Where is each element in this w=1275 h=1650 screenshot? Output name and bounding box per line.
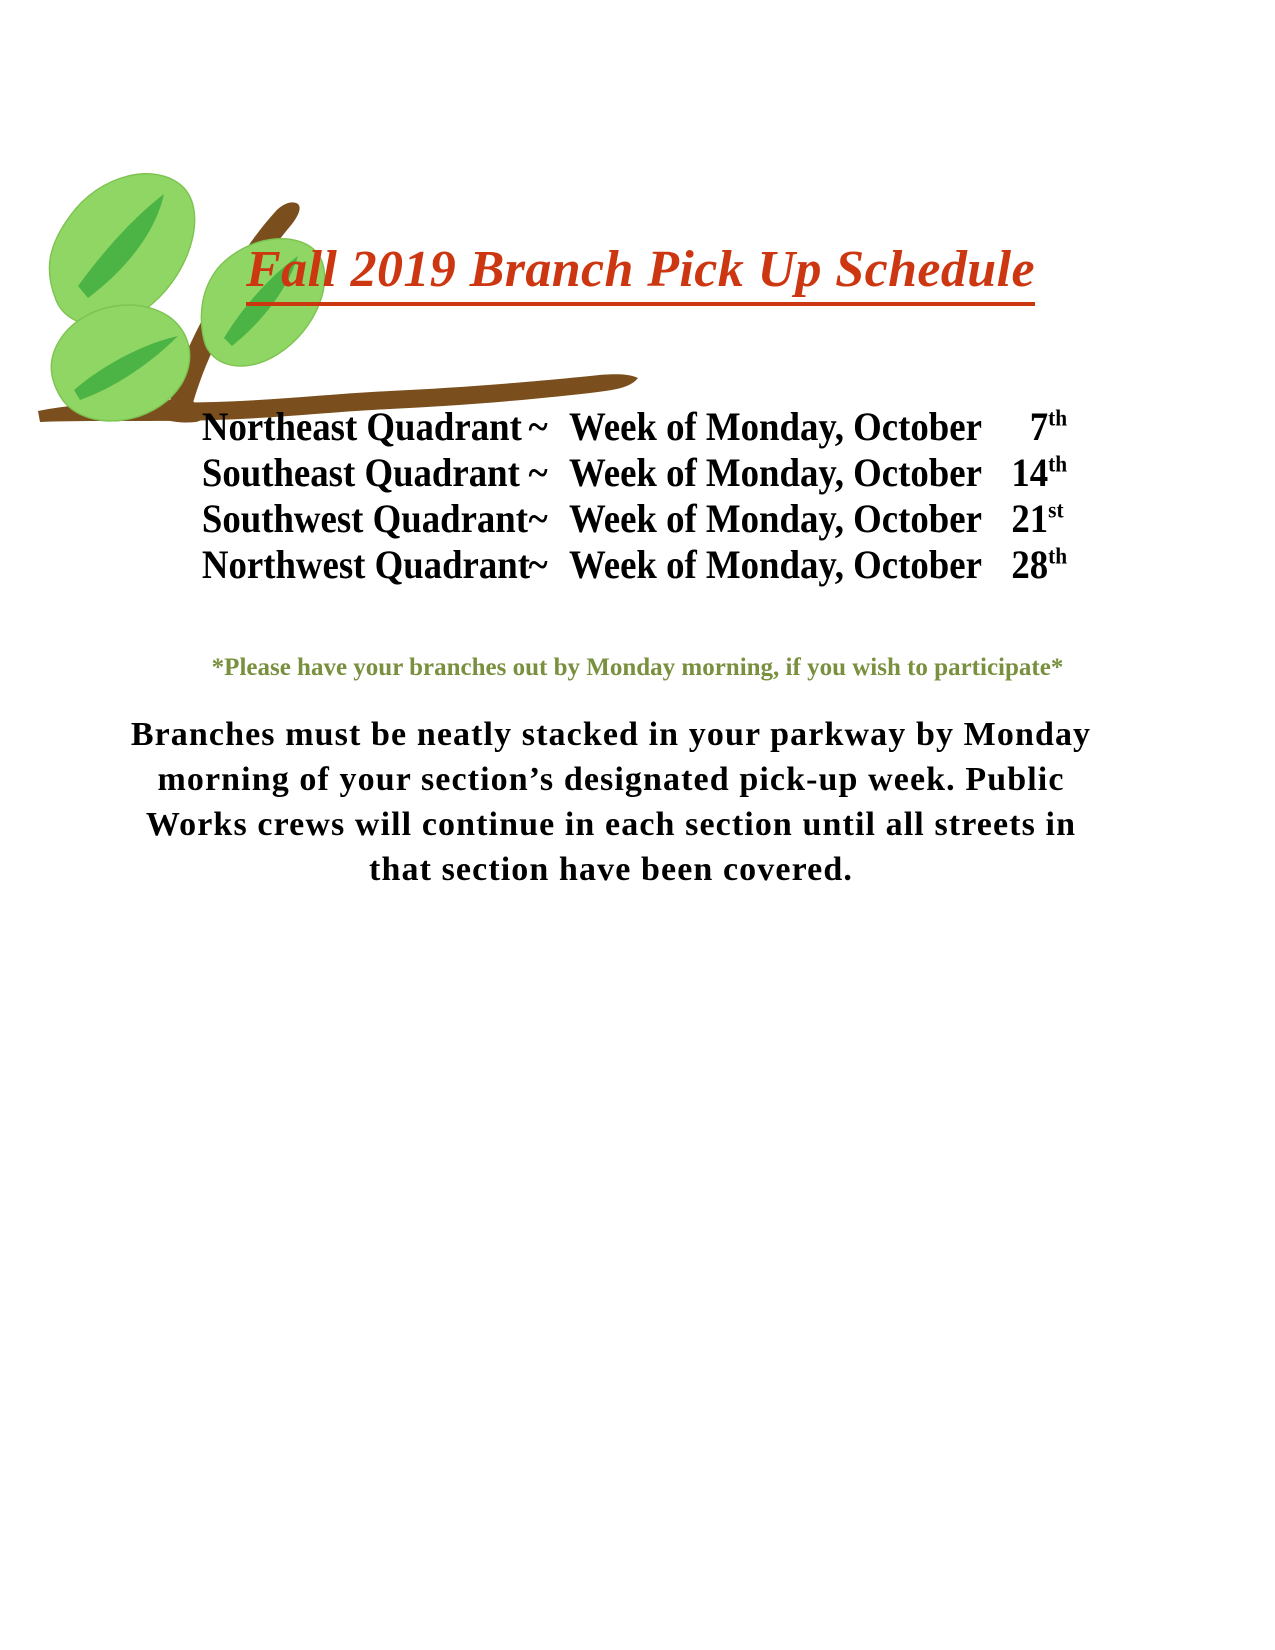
pickup-day: 21 (1000, 496, 1048, 542)
pickup-day: 28 (1000, 542, 1048, 588)
week-label: Week of Monday, October (569, 496, 982, 542)
pickup-schedule-list: Northeast Quadrant~Week of Monday, Octob… (0, 404, 1275, 588)
week-label: Week of Monday, October (569, 542, 982, 588)
quadrant-name: Southeast Quadrant (202, 450, 529, 496)
instructions-line: that section have been covered. (72, 847, 1150, 892)
separator-tilde: ~ (528, 496, 568, 542)
pickup-day: 14 (1000, 450, 1048, 496)
instructions-line: morning of your section’s designated pic… (72, 757, 1150, 802)
flyer-page: Fall 2019 Branch Pick Up Schedule Northe… (0, 0, 1275, 1650)
quadrant-name: Northwest Quadrant (202, 542, 529, 588)
separator-tilde: ~ (528, 404, 568, 450)
schedule-row-southwest: Southwest Quadrant~Week of Monday, Octob… (51, 496, 1224, 542)
pickup-day-ordinal: st (1048, 498, 1063, 524)
instructions-line: Branches must be neatly stacked in your … (72, 712, 1150, 757)
week-label: Week of Monday, October (569, 404, 982, 450)
page-title: Fall 2019 Branch Pick Up Schedule (0, 243, 1275, 306)
week-label: Week of Monday, October (569, 450, 982, 496)
schedule-row-northwest: Northwest Quadrant~Week of Monday, Octob… (51, 542, 1224, 588)
separator-tilde: ~ (528, 450, 568, 496)
separator-tilde: ~ (528, 542, 568, 588)
pickup-day: 7 (1000, 404, 1048, 450)
participation-note: *Please have your branches out by Monday… (0, 652, 1275, 684)
page-title-text: Fall 2019 Branch Pick Up Schedule (246, 243, 1035, 306)
quadrant-name: Northeast Quadrant (202, 404, 529, 450)
pickup-day-ordinal: th (1048, 544, 1067, 570)
instructions-line: Works crews will continue in each sectio… (72, 802, 1150, 847)
pickup-day-ordinal: th (1048, 406, 1067, 432)
schedule-row-southeast: Southeast Quadrant~Week of Monday, Octob… (51, 450, 1224, 496)
quadrant-name: Southwest Quadrant (202, 496, 529, 542)
instructions-paragraph: Branches must be neatly stacked in your … (72, 712, 1150, 892)
schedule-row-northeast: Northeast Quadrant~Week of Monday, Octob… (51, 404, 1224, 450)
pickup-day-ordinal: th (1048, 452, 1067, 478)
